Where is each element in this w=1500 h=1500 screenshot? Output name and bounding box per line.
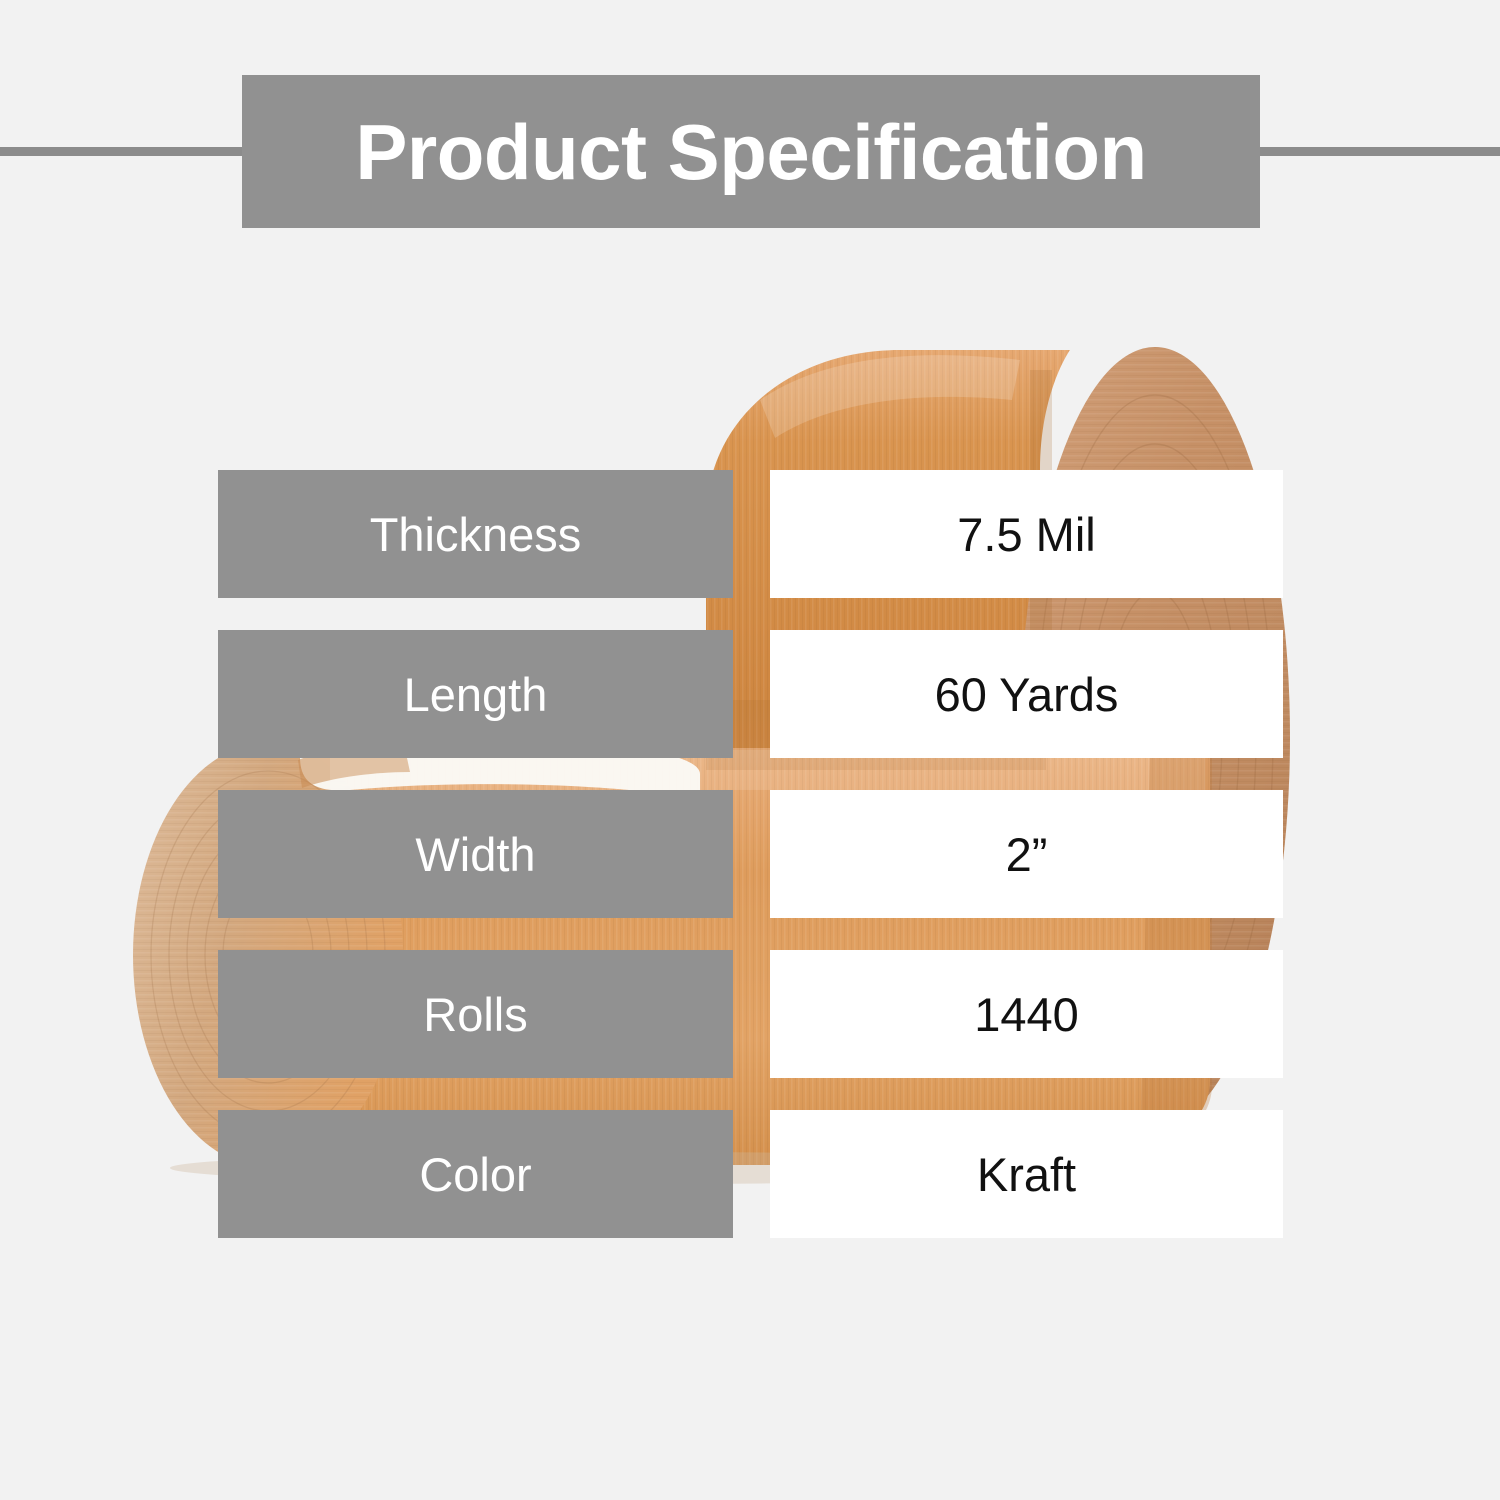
spec-label-rolls: Rolls: [218, 950, 733, 1078]
spec-label-thickness: Thickness: [218, 470, 733, 598]
table-row: Thickness 7.5 Mil: [218, 470, 1283, 598]
spec-value-text: 60 Yards: [935, 671, 1119, 718]
spec-value-text: Kraft: [977, 1151, 1076, 1198]
spec-value-text: 2”: [1006, 831, 1048, 878]
spec-label-text: Width: [415, 831, 535, 878]
page-title: Product Specification: [355, 113, 1146, 191]
spec-label-text: Rolls: [423, 991, 527, 1038]
spec-label-length: Length: [218, 630, 733, 758]
spec-value-rolls: 1440: [770, 950, 1283, 1078]
spec-value-thickness: 7.5 Mil: [770, 470, 1283, 598]
spec-value-color: Kraft: [770, 1110, 1283, 1238]
title-banner: Product Specification: [242, 75, 1260, 228]
specification-table: Thickness 7.5 Mil Length 60 Yards Width …: [218, 470, 1283, 1270]
product-specification-page: Product Specification Thickness 7.5 Mil …: [0, 0, 1500, 1500]
spec-value-text: 1440: [974, 991, 1079, 1038]
spec-value-width: 2”: [770, 790, 1283, 918]
table-row: Width 2”: [218, 790, 1283, 918]
spec-label-text: Color: [419, 1151, 531, 1198]
table-row: Rolls 1440: [218, 950, 1283, 1078]
table-row: Length 60 Yards: [218, 630, 1283, 758]
spec-value-length: 60 Yards: [770, 630, 1283, 758]
table-row: Color Kraft: [218, 1110, 1283, 1238]
spec-label-width: Width: [218, 790, 733, 918]
spec-value-text: 7.5 Mil: [957, 511, 1095, 558]
spec-label-text: Length: [404, 671, 548, 718]
spec-label-text: Thickness: [370, 511, 582, 558]
spec-label-color: Color: [218, 1110, 733, 1238]
